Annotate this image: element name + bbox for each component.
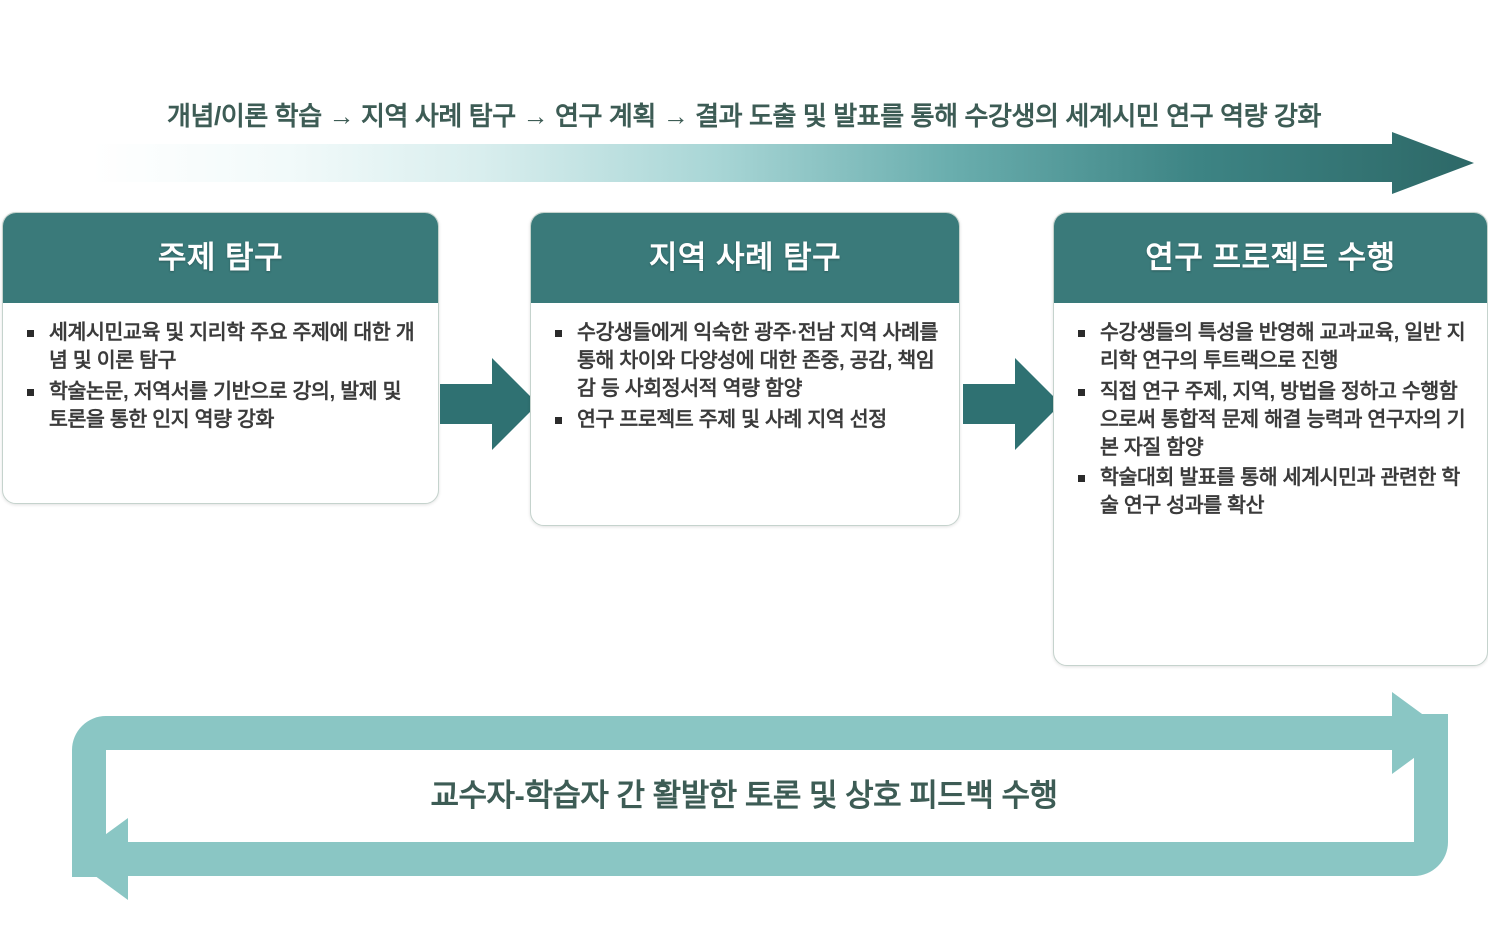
- list-item: 연구 프로젝트 주제 및 사례 지역 선정: [551, 406, 945, 434]
- top-progress-arrow: [92, 132, 1474, 194]
- list-item: 수강생들에게 익숙한 광주·전남 지역 사례를 통해 차이와 다양성에 대한 존…: [551, 319, 945, 403]
- stage-card-2: 지역 사례 탐구 수강생들에게 익숙한 광주·전남 지역 사례를 통해 차이와 …: [530, 212, 960, 526]
- stage-1-bullet-list: 세계시민교육 및 지리학 주요 주제에 대한 개념 및 이론 탐구 학술논문, …: [3, 303, 438, 451]
- stage-card-1: 주제 탐구 세계시민교육 및 지리학 주요 주제에 대한 개념 및 이론 탐구 …: [2, 212, 439, 504]
- stage-card-3: 연구 프로젝트 수행 수강생들의 특성을 반영해 교과교육, 일반 지리학 연구…: [1053, 212, 1488, 666]
- headline-text: 개념/이론 학습 → 지역 사례 탐구 → 연구 계획 → 결과 도출 및 발표…: [0, 96, 1488, 133]
- connector-arrow-1: [440, 354, 538, 454]
- list-item: 수강생들의 특성을 반영해 교과교육, 일반 지리학 연구의 투트랙으로 진행: [1074, 319, 1473, 375]
- stage-3-title: 연구 프로젝트 수행: [1054, 213, 1487, 303]
- connector-arrow-2: [963, 354, 1061, 454]
- list-item: 학술대회 발표를 통해 세계시민과 관련한 학술 연구 성과를 확산: [1074, 464, 1473, 520]
- diagram-canvas: 개념/이론 학습 → 지역 사례 탐구 → 연구 계획 → 결과 도출 및 발표…: [0, 0, 1488, 939]
- stage-2-title: 지역 사례 탐구: [531, 213, 959, 303]
- stage-1-title: 주제 탐구: [3, 213, 438, 303]
- list-item: 학술논문, 저역서를 기반으로 강의, 발제 및 토론을 통한 인지 역량 강화: [23, 378, 424, 434]
- stage-3-bullet-list: 수강생들의 특성을 반영해 교과교육, 일반 지리학 연구의 투트랙으로 진행 …: [1054, 303, 1487, 537]
- stage-2-bullet-list: 수강생들에게 익숙한 광주·전남 지역 사례를 통해 차이와 다양성에 대한 존…: [531, 303, 959, 451]
- list-item: 직접 연구 주제, 지역, 방법을 정하고 수행함으로써 통합적 문제 해결 능…: [1074, 378, 1473, 462]
- feedback-loop-label: 교수자-학습자 간 활발한 토론 및 상호 피드백 수행: [0, 770, 1488, 815]
- list-item: 세계시민교육 및 지리학 주요 주제에 대한 개념 및 이론 탐구: [23, 319, 424, 375]
